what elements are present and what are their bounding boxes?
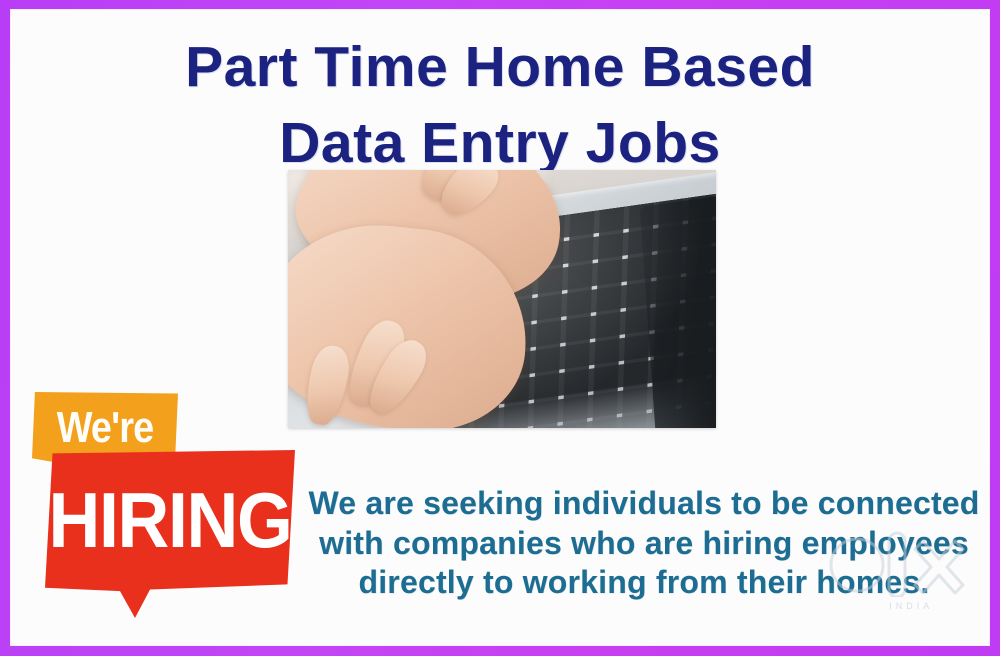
body-line-1: We are seeking individuals to be connect… [291, 484, 989, 524]
finger [301, 342, 354, 428]
poster-root: Part Time Home Based Data Entry Jobs [0, 0, 1000, 656]
poster-card: Part Time Home Based Data Entry Jobs [11, 10, 989, 645]
keyboard-typing-photo [288, 170, 716, 428]
body-line-2: with companies who are hiring employees [291, 524, 989, 564]
headline-line-1: Part Time Home Based [11, 30, 989, 106]
were-hiring-badge: We're HIRING [27, 392, 297, 624]
body-paragraph: We are seeking individuals to be connect… [291, 484, 989, 603]
hiring-label: HIRING [55, 450, 285, 590]
page-title: Part Time Home Based Data Entry Jobs [11, 30, 989, 182]
body-line-3: directly to working from their homes. [291, 563, 989, 603]
